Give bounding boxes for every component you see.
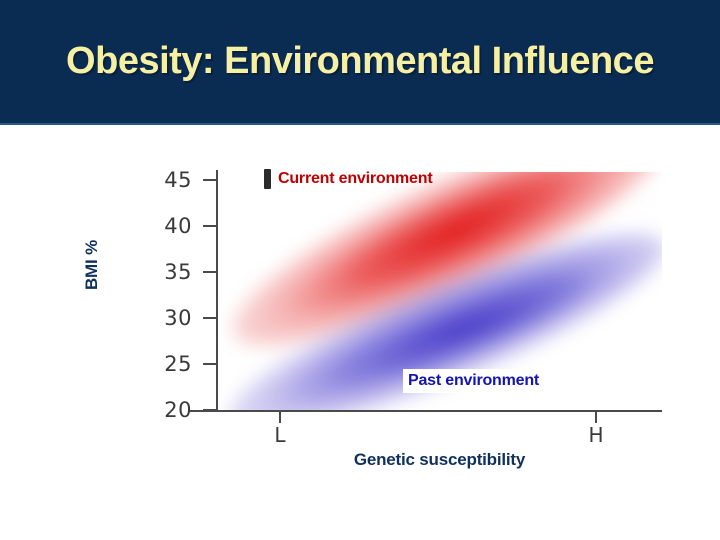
page-title: Obesity: Environmental Influence xyxy=(0,40,720,83)
x-axis-title: Genetic susceptibility xyxy=(217,450,662,470)
legend-label-past-environment: Past environment xyxy=(408,372,539,389)
y-axis-tick-label: 20 xyxy=(148,398,192,422)
slide-body: 45 40 35 30 25 20 L H xyxy=(0,125,720,540)
y-axis-tick-label: 35 xyxy=(148,260,192,284)
y-axis-tick xyxy=(203,271,216,273)
y-axis-tick xyxy=(203,317,216,319)
marker-swatch-icon xyxy=(264,169,271,189)
x-axis-tick-label: L xyxy=(265,423,295,447)
y-axis-tick xyxy=(203,363,216,365)
y-axis-tick-label: 25 xyxy=(148,352,192,376)
x-axis-line xyxy=(190,410,662,412)
y-axis-tick-label: 40 xyxy=(148,214,192,238)
y-axis-tick xyxy=(203,179,216,181)
y-axis-tick xyxy=(203,225,216,227)
slide: Obesity: Environmental Influence 45 40 3… xyxy=(0,0,720,540)
scatter-chart: 45 40 35 30 25 20 L H xyxy=(0,125,720,540)
legend-label-current-environment: Current environment xyxy=(278,170,432,188)
y-axis-tick-label: 45 xyxy=(148,168,192,192)
y-axis-tick-label: 30 xyxy=(148,306,192,330)
x-axis-tick xyxy=(279,412,281,423)
legend-item-past-environment: Past environment xyxy=(403,369,544,393)
legend-item-current-environment: Current environment xyxy=(264,169,432,189)
x-axis-tick-label: H xyxy=(581,423,611,447)
x-axis-tick xyxy=(595,412,597,423)
y-axis-title: BMI % xyxy=(82,205,102,325)
